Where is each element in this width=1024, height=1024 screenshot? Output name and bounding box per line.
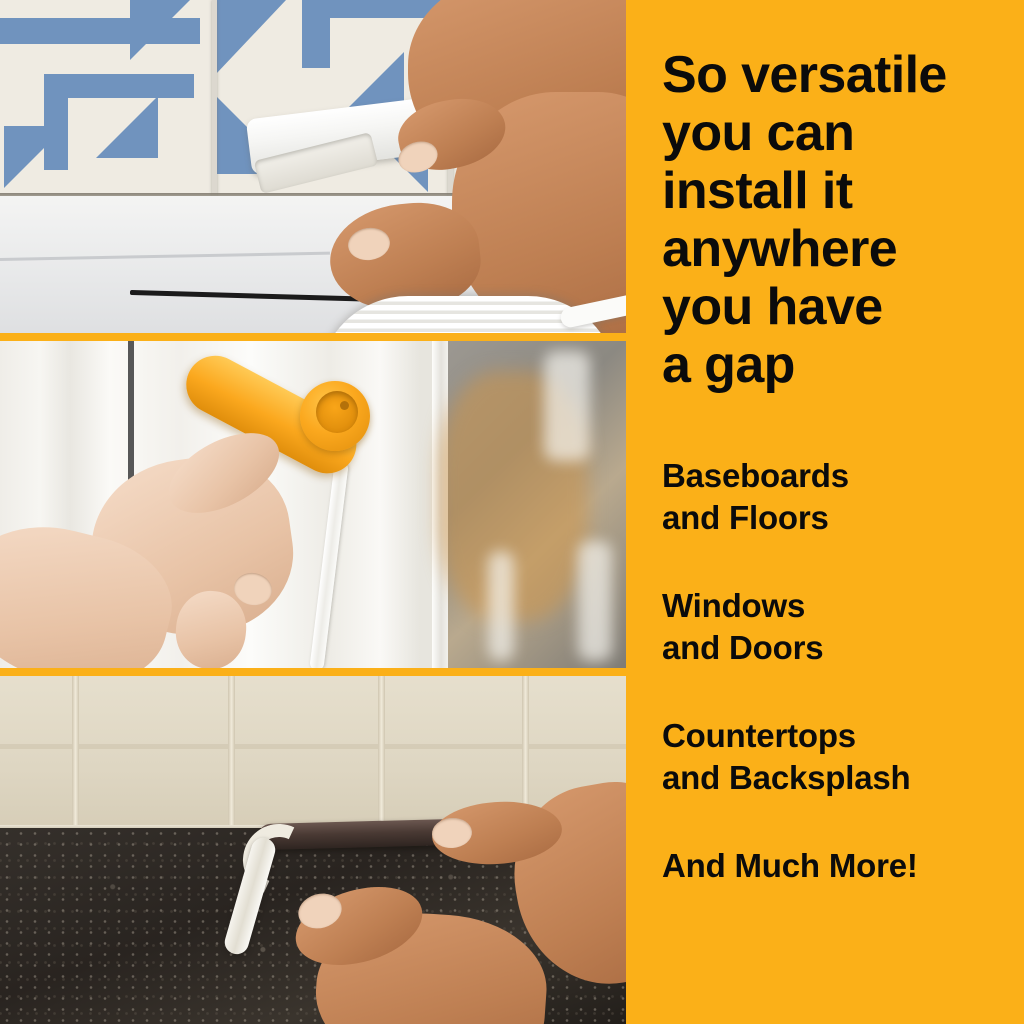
list-item: And Much More! (662, 845, 1014, 887)
list-item: Baseboards and Floors (662, 455, 1014, 539)
headline-line: a gap (662, 336, 1014, 394)
tile-grout-line (212, 0, 217, 200)
list-item-line: and Doors (662, 627, 1014, 669)
tile-seam (228, 676, 235, 831)
photo-countertop-granite (0, 676, 626, 1024)
tile-seam (0, 744, 626, 749)
page-title: So versatile you can install it anywhere… (662, 46, 1014, 394)
headline-line: you have (662, 278, 1014, 336)
list-item-line: Countertops (662, 715, 1014, 757)
tile-seam (378, 676, 385, 831)
photo-column (0, 0, 626, 1024)
list-item: Windows and Doors (662, 585, 1014, 669)
photo-divider (0, 668, 626, 676)
headline-line: So versatile (662, 46, 1014, 104)
list-item: Countertops and Backsplash (662, 715, 1014, 799)
feature-list: Baseboards and Floors Windows and Doors … (662, 455, 1014, 887)
product-infographic: So versatile you can install it anywhere… (0, 0, 1024, 1024)
window-pane (448, 341, 626, 668)
applicator-tool-hole (340, 401, 349, 410)
patterned-tile (0, 0, 212, 200)
list-item-line: Baseboards (662, 455, 1014, 497)
list-item-line: Windows (662, 585, 1014, 627)
photo-window-frame (0, 341, 626, 668)
headline-line: anywhere (662, 220, 1014, 278)
photo-divider (0, 333, 626, 341)
list-item-line: And Much More! (662, 845, 1014, 887)
photo-backsplash-tile (0, 0, 626, 333)
tile-seam (72, 676, 79, 831)
list-item-line: and Floors (662, 497, 1014, 539)
headline-line: you can (662, 104, 1014, 162)
applicator-tool-ring (316, 391, 358, 433)
list-item-line: and Backsplash (662, 757, 1014, 799)
headline-line: install it (662, 162, 1014, 220)
text-panel: So versatile you can install it anywhere… (626, 0, 1024, 1024)
